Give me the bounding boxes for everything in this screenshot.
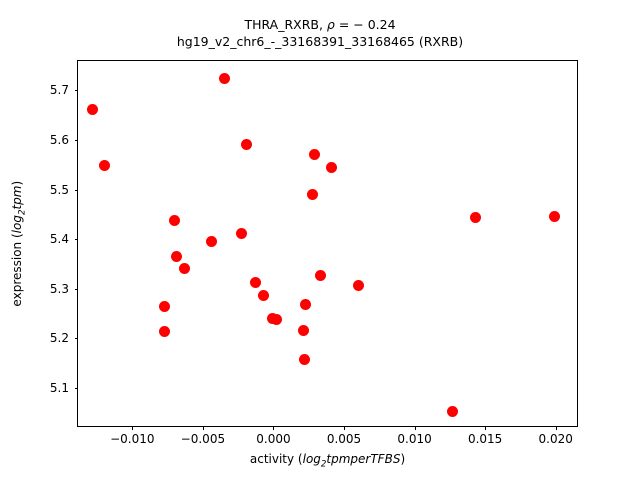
- data-point: [326, 162, 337, 173]
- data-point: [241, 139, 252, 150]
- data-point: [87, 104, 98, 115]
- y-tick-mark: [75, 239, 79, 240]
- y-tick-mark: [75, 140, 79, 141]
- y-tick-label: 5.5: [50, 183, 69, 197]
- x-tick-mark: [344, 426, 345, 430]
- data-point: [271, 314, 282, 325]
- plot-axes: −0.010−0.0050.0000.0050.0100.0150.020 5.…: [77, 60, 578, 427]
- data-point: [353, 280, 364, 291]
- y-tick-label: 5.2: [50, 331, 69, 345]
- x-tick-label: 0.010: [397, 432, 431, 446]
- x-tick-mark: [273, 426, 274, 430]
- data-point: [470, 212, 481, 223]
- rho-symbol: ρ: [327, 17, 335, 32]
- math-italic-segment: log2tpmperTFBS: [303, 452, 401, 466]
- y-tick-mark: [75, 289, 79, 290]
- data-point: [169, 215, 180, 226]
- data-point: [159, 301, 170, 312]
- chart-title: THRA_RXRB, ρ = − 0.24 hg19_v2_chr6_-_331…: [0, 16, 640, 50]
- math-italic-segment: log2tpm: [10, 185, 24, 233]
- data-point: [447, 406, 458, 417]
- data-point: [219, 73, 230, 84]
- data-point: [206, 236, 217, 247]
- data-point: [315, 270, 326, 281]
- data-point: [99, 160, 110, 171]
- y-tick-mark: [75, 338, 79, 339]
- chart-subtitle: hg19_v2_chr6_-_33168391_33168465 (RXRB): [0, 33, 640, 50]
- x-tick-label: −0.010: [110, 432, 154, 446]
- y-tick-label: 5.7: [50, 83, 69, 97]
- x-axis-label: activity (log2tpmperTFBS): [77, 452, 578, 469]
- data-point: [307, 189, 318, 200]
- chart-title-line-1: THRA_RXRB, ρ = − 0.24: [0, 16, 640, 33]
- y-tick-label: 5.4: [50, 232, 69, 246]
- x-tick-label: 0.005: [327, 432, 361, 446]
- data-point: [159, 326, 170, 337]
- x-tick-mark: [485, 426, 486, 430]
- x-tick-label: 0.020: [539, 432, 573, 446]
- data-point: [171, 251, 182, 262]
- y-tick-label: 5.6: [50, 133, 69, 147]
- scatter-plot-figure: THRA_RXRB, ρ = − 0.24 hg19_v2_chr6_-_331…: [0, 0, 640, 480]
- data-point: [250, 277, 261, 288]
- data-point: [300, 299, 311, 310]
- data-point: [258, 290, 269, 301]
- data-point: [549, 211, 560, 222]
- y-tick-label: 5.1: [50, 381, 69, 395]
- y-tick-label: 5.3: [50, 282, 69, 296]
- data-point: [299, 354, 310, 365]
- y-axis-label: expression (log2tpm): [10, 60, 28, 427]
- data-point-layer: [78, 61, 577, 426]
- x-tick-label: −0.005: [181, 432, 225, 446]
- x-tick-mark: [132, 426, 133, 430]
- x-tick-mark: [415, 426, 416, 430]
- y-tick-mark: [75, 90, 79, 91]
- x-tick-label: 0.000: [256, 432, 290, 446]
- x-tick-mark: [556, 426, 557, 430]
- x-tick-label: 0.015: [468, 432, 502, 446]
- x-tick-mark: [203, 426, 204, 430]
- y-tick-mark: [75, 388, 79, 389]
- data-point: [236, 228, 247, 239]
- data-point: [298, 325, 309, 336]
- data-point: [179, 263, 190, 274]
- y-tick-mark: [75, 190, 79, 191]
- data-point: [309, 149, 320, 160]
